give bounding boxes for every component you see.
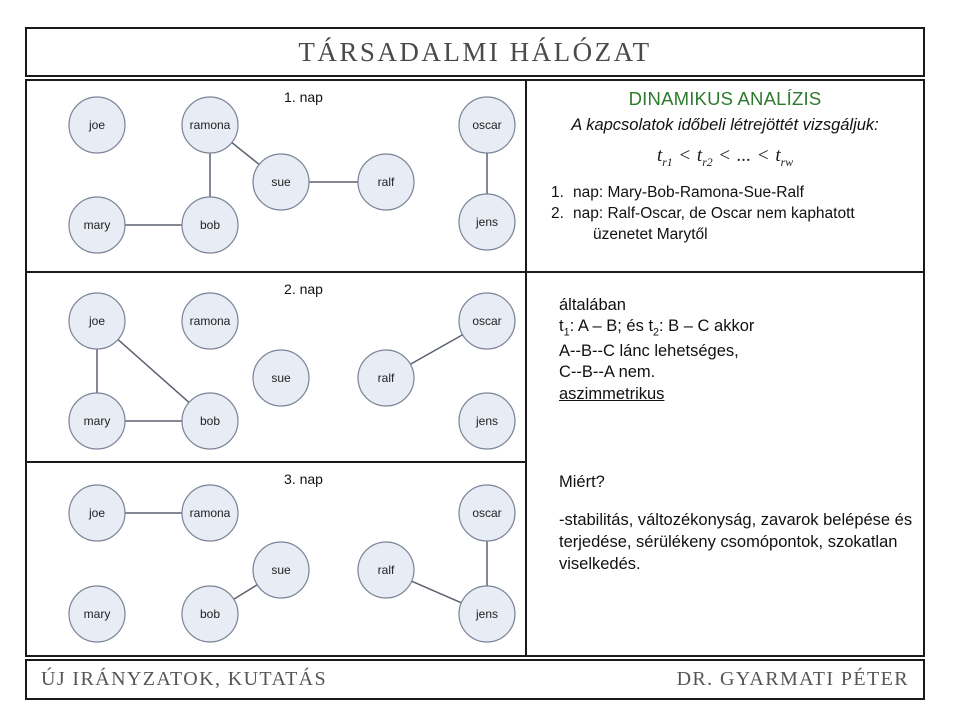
graph-node-sue[interactable]: sue [253,542,309,598]
graph-node-joe[interactable]: joe [69,97,125,153]
graph-node-ramona[interactable]: ramona [182,485,238,541]
network-graph-day2: joeramonaoscarsueralfmarybobjens [27,273,525,461]
day-number: 1. [551,183,564,203]
slide-title-bar: TÁRSADALMI HÁLÓZAT [25,27,925,77]
graph-node-oscar[interactable]: oscar [459,293,515,349]
graph-edge [410,335,462,364]
graph-node-jens[interactable]: jens [459,393,515,449]
graph-node-ralf[interactable]: ralf [358,350,414,406]
node-label: ramona [190,314,231,328]
graph-panel-day2: joeramonaoscarsueralfmarybobjens 2. nap [27,271,525,461]
node-label: jens [475,607,498,621]
footer-right-text: DR. GYARMATI PÉTER [677,668,909,691]
page-title: TÁRSADALMI HÁLÓZAT [298,37,651,68]
node-label: bob [200,607,220,621]
node-label: ramona [190,506,231,520]
node-label: mary [84,414,111,428]
formula-sub-r1: r1 [662,156,672,169]
node-label: ralf [378,371,395,385]
footer-left-text: ÚJ IRÁNYZATOK, KUTATÁS [41,668,327,691]
network-graph-day3: joeramonaoscarsueralfmarybobjens [27,463,525,655]
dynamic-analysis-heading: DINAMIKUS ANALÍZIS [527,88,923,110]
node-label: jens [475,215,498,229]
day-sequence-list: 1. nap: Mary-Bob-Ramona-Sue-Ralf 2. nap:… [527,183,923,245]
general-line-4: C--B--A nem. [559,362,923,383]
time-ordering-formula: tr1 < tr2 < ... < trw [527,145,923,170]
node-label: mary [84,218,111,232]
node-label: oscar [472,314,501,328]
formula-sub-rw: rw [781,156,793,169]
formula-op-1: < [677,145,692,166]
node-label: joe [88,506,105,520]
graph-node-sue[interactable]: sue [253,350,309,406]
general-mid-b: : A – B; és t [570,317,653,335]
asymmetric-text: aszimmetrikus [559,385,664,403]
graph-node-joe[interactable]: joe [69,293,125,349]
node-label: ralf [378,563,395,577]
graph-node-oscar[interactable]: oscar [459,485,515,541]
formula-sub-r2: r2 [702,156,712,169]
graph-node-mary[interactable]: mary [69,586,125,642]
node-label: ralf [378,175,395,189]
dynamic-analysis-section: DINAMIKUS ANALÍZIS A kapcsolatok időbeli… [527,81,923,271]
text-column: DINAMIKUS ANALÍZIS A kapcsolatok időbeli… [527,81,923,655]
dynamic-analysis-subtitle: A kapcsolatok időbeli létrejöttét vizsgá… [527,116,923,135]
graph-node-ralf[interactable]: ralf [358,542,414,598]
graph-column: joeramonaoscarsueralfmarybobjens 1. nap … [27,81,525,655]
general-rule-section: általában t1: A – B; és t2: B – C akkor … [527,271,923,461]
node-label: jens [475,414,498,428]
node-label: sue [271,563,291,577]
node-label: bob [200,414,220,428]
list-item: 2. nap: Ralf-Oscar, de Oscar nem kaphato… [551,204,923,245]
general-mid-c: : B – C akkor [659,317,754,335]
formula-op-2: < [717,145,732,166]
graph-node-bob[interactable]: bob [182,393,238,449]
slide-footer: ÚJ IRÁNYZATOK, KUTATÁS DR. GYARMATI PÉTE… [25,659,925,700]
graph-node-jens[interactable]: jens [459,194,515,250]
general-rule-text: általában t1: A – B; és t2: B – C akkor … [527,273,923,405]
node-label: sue [271,371,291,385]
asymmetric-label: aszimmetrikus [559,384,923,405]
node-label: ramona [190,118,231,132]
list-item: 1. nap: Mary-Bob-Ramona-Sue-Ralf [551,183,923,203]
graph-node-bob[interactable]: bob [182,197,238,253]
general-line-2: t1: A – B; és t2: B – C akkor [559,316,923,340]
graph-edge [118,340,189,403]
node-label: mary [84,607,111,621]
slide-body: joeramonaoscarsueralfmarybobjens 1. nap … [25,79,925,657]
graph-node-mary[interactable]: mary [69,393,125,449]
graph-panel-day1: joeramonaoscarsueralfmarybobjens 1. nap [27,81,525,271]
node-label: oscar [472,506,501,520]
day-text-continued: üzenetet Marytől [573,225,923,245]
graph-node-joe[interactable]: joe [69,485,125,541]
graph-node-mary[interactable]: mary [69,197,125,253]
why-question: Miért? [527,461,923,492]
graph-node-ralf[interactable]: ralf [358,154,414,210]
day-number: 2. [551,204,564,224]
graph-panel-day3: joeramonaoscarsueralfmarybobjens 3. nap [27,461,525,655]
network-graph-day1: joeramonaoscarsueralfmarybobjens [27,81,525,269]
why-section: Miért? -stabilitás, változékonyság, zava… [527,461,923,655]
graph-node-jens[interactable]: jens [459,586,515,642]
graph-edge [412,581,462,603]
graph-edge [232,143,259,165]
node-label: joe [88,118,105,132]
formula-ellipsis: ... [737,145,751,166]
node-label: sue [271,175,291,189]
day-text: nap: Mary-Bob-Ramona-Sue-Ralf [573,184,804,201]
graph-node-oscar[interactable]: oscar [459,97,515,153]
node-label: bob [200,218,220,232]
day-text: nap: Ralf-Oscar, de Oscar nem kaphatott [573,205,855,222]
graph-node-ramona[interactable]: ramona [182,293,238,349]
general-line-3: A--B--C lánc lehetséges, [559,341,923,362]
graph-node-bob[interactable]: bob [182,586,238,642]
graph-node-ramona[interactable]: ramona [182,97,238,153]
general-line-1: általában [559,295,923,316]
formula-op-3: < [756,145,771,166]
graph-node-sue[interactable]: sue [253,154,309,210]
graph-edge [234,585,257,600]
slide-root: TÁRSADALMI HÁLÓZAT joeramonaoscarsueralf… [25,27,925,700]
node-label: joe [88,314,105,328]
why-answer: -stabilitás, változékonyság, zavarok bel… [527,492,929,575]
node-label: oscar [472,118,501,132]
